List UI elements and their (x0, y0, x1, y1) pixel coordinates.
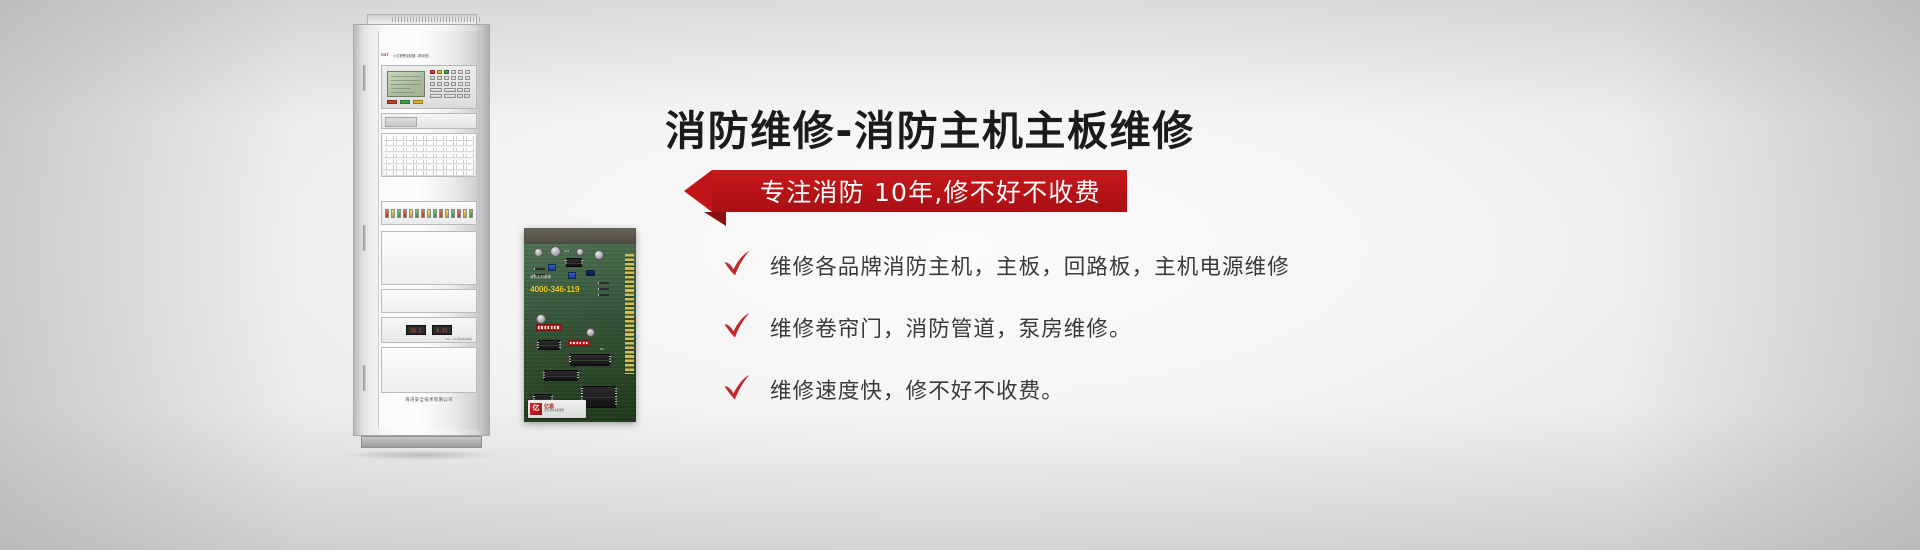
list-item-label: 维修卷帘门，消防管道，泵房维修。 (770, 312, 1132, 343)
tagline-ribbon-tail (704, 212, 726, 226)
list-item-label: 维修各品牌消防主机，主板，回路板，主机电源维修 (770, 250, 1290, 281)
check-icon (722, 312, 752, 342)
tagline-text: 专注消防 10年,修不好不收费 (760, 173, 1101, 209)
promo-banner: GST 火灾报警控制器（联动型） (0, 0, 1920, 550)
list-item: 维修各品牌消防主机，主板，回路板，主机电源维修 (722, 243, 1290, 287)
check-icon (722, 250, 752, 280)
banner-text-content: 消防维修-消防主机主板维修 专注消防 10年,修不好不收费 维修各品牌消防主机，… (0, 0, 1920, 550)
list-item: 维修卷帘门，消防管道，泵房维修。 (722, 305, 1290, 349)
tagline-ribbon: 专注消防 10年,修不好不收费 (712, 170, 1127, 212)
check-icon (722, 374, 752, 404)
tagline-ribbon-body: 专注消防 10年,修不好不收费 (712, 170, 1127, 212)
list-item: 维修速度快，修不好不收费。 (722, 367, 1290, 411)
page-title: 消防维修-消防主机主板维修 (665, 97, 1195, 157)
feature-list: 维修各品牌消防主机，主板，回路板，主机电源维修 维修卷帘门，消防管道，泵房维修。… (722, 243, 1290, 429)
list-item-label: 维修速度快，修不好不收费。 (770, 374, 1064, 405)
